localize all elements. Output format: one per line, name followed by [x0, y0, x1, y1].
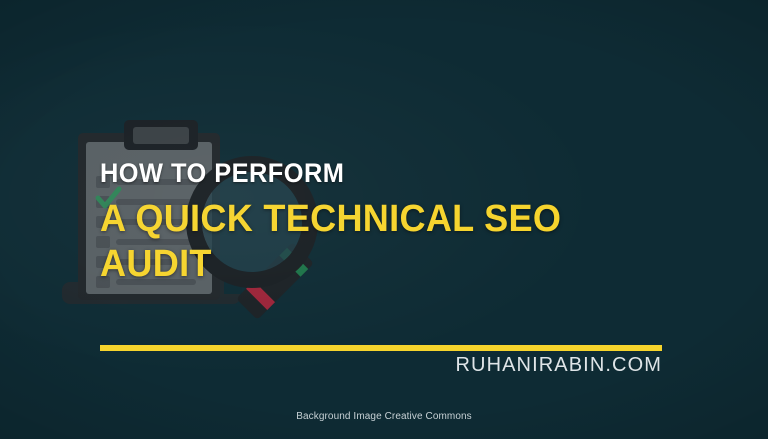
hero-title: A QUICK TECHNICAL SEO AUDIT [100, 197, 561, 287]
hero-title-line-1: A QUICK TECHNICAL SEO [100, 197, 561, 242]
poster-canvas: HOW TO PERFORM A QUICK TECHNICAL SEO AUD… [0, 0, 768, 439]
site-url: RUHANIRABIN.COM [455, 353, 662, 377]
hero-title-line-2: AUDIT [100, 242, 561, 287]
accent-divider [100, 345, 662, 351]
hero-headline: HOW TO PERFORM A QUICK TECHNICAL SEO AUD… [100, 158, 586, 287]
image-credit-caption: Background Image Creative Commons [0, 410, 768, 424]
hero-kicker: HOW TO PERFORM [100, 158, 556, 188]
